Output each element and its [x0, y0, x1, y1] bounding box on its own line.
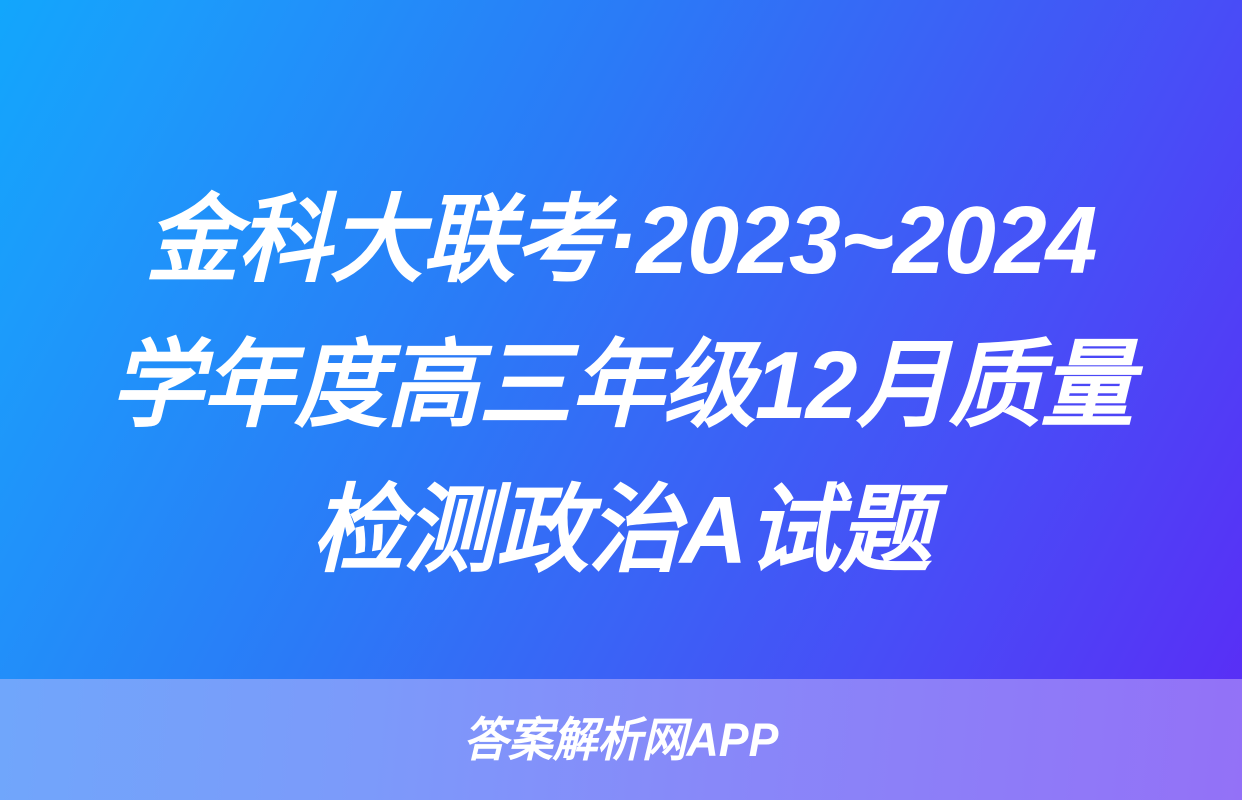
title-line-1: 金科大联考·2023~2024	[146, 168, 1097, 313]
app-brand-label: 答案解析网APP	[463, 716, 778, 763]
title-line-2: 学年度高三年级12月质量	[109, 313, 1132, 458]
page-title: 金科大联考·2023~2024 学年度高三年级12月质量 检测政治A试题	[0, 168, 1242, 603]
exam-title-poster: 金科大联考·2023~2024 学年度高三年级12月质量 检测政治A试题 答案解…	[0, 0, 1242, 800]
footer-banner: 答案解析网APP	[0, 679, 1242, 800]
title-line-3: 检测政治A试题	[311, 458, 930, 603]
